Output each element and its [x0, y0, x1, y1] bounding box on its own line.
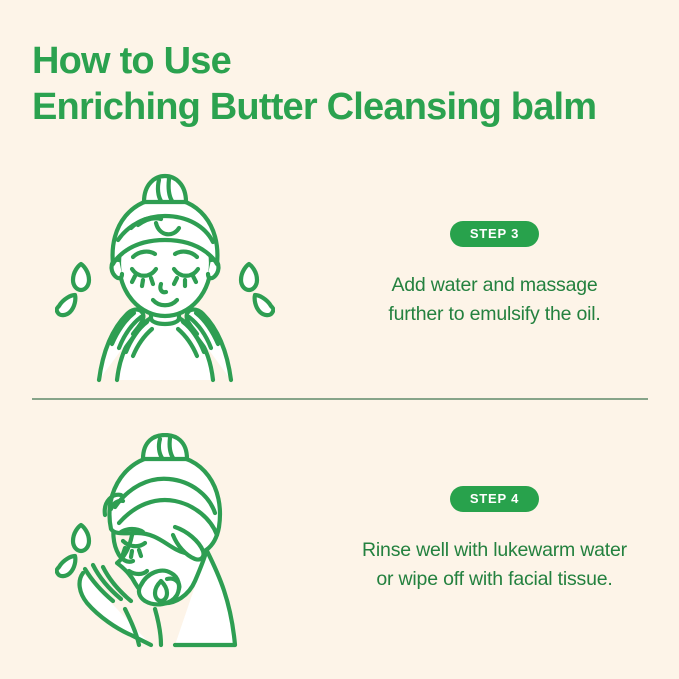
title-line-1: How to Use — [32, 38, 662, 84]
title-line-2: Enriching Butter Cleansing balm — [32, 84, 662, 130]
page-title: How to Use Enriching Butter Cleansing ba… — [32, 38, 662, 130]
step-3-text-line-1: Add water and massage — [391, 271, 597, 300]
status-badge-step-3: STEP 3 — [450, 221, 539, 247]
woman-massaging-face-icon — [55, 168, 275, 383]
woman-rinsing-face-icon — [55, 433, 275, 648]
step-4-text-line-1: Rinse well with lukewarm water — [362, 536, 627, 565]
step-3-text-line-2: further to emulsify the oil. — [388, 300, 600, 329]
poster-canvas: How to Use Enriching Butter Cleansing ba… — [0, 0, 679, 679]
step-4-text-line-2: or wipe off with facial tissue. — [376, 565, 612, 594]
step-block-3: STEP 3 Add water and massage further to … — [0, 160, 679, 390]
illustration-step-3 — [0, 160, 330, 390]
step-4-text-column: STEP 4 Rinse well with lukewarm water or… — [330, 425, 679, 655]
section-divider — [32, 398, 648, 400]
step-3-text-column: STEP 3 Add water and massage further to … — [330, 160, 679, 390]
status-badge-step-4: STEP 4 — [450, 486, 539, 512]
illustration-step-4 — [0, 425, 330, 655]
step-block-4: STEP 4 Rinse well with lukewarm water or… — [0, 425, 679, 655]
